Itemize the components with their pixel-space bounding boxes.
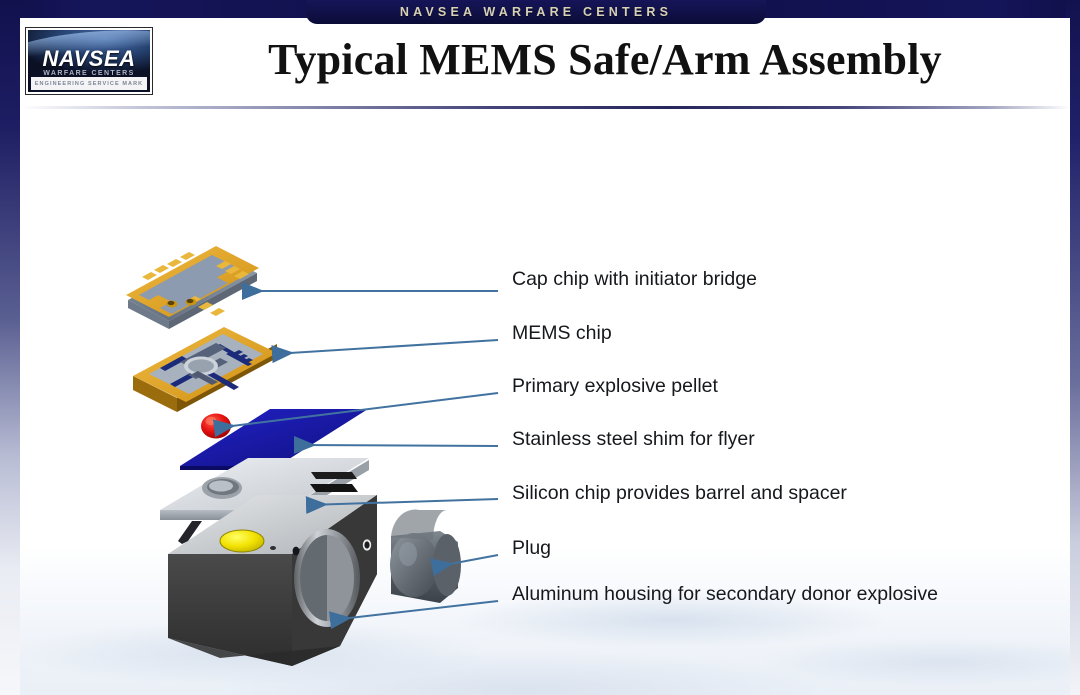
- navsea-warfare-centers-banner: NAVSEA WARFARE CENTERS: [306, 0, 766, 24]
- leader-line-mems-chip: [274, 340, 498, 354]
- part-mems-chip: [133, 327, 277, 412]
- callout-label-steel-shim: Stainless steel shim for flyer: [512, 428, 755, 451]
- callout-label-aluminum-housing: Aluminum housing for secondary donor exp…: [512, 583, 938, 606]
- slide-viewer: NAVSEA WARFARE CENTERS ENGINEERING SERVI…: [0, 0, 1080, 695]
- callout-label-plug: Plug: [512, 537, 551, 560]
- part-cap-chip: [126, 246, 259, 329]
- leader-line-primary-pellet: [216, 393, 498, 428]
- banner-text: NAVSEA WARFARE CENTERS: [400, 5, 672, 19]
- leader-line-steel-shim: [296, 445, 498, 446]
- callout-label-primary-pellet: Primary explosive pellet: [512, 375, 718, 398]
- presentation-slide: NAVSEA WARFARE CENTERS ENGINEERING SERVI…: [20, 18, 1070, 695]
- callout-label-mems-chip: MEMS chip: [512, 322, 612, 345]
- callout-label-silicon-chip: Silicon chip provides barrel and spacer: [512, 482, 847, 505]
- part-plug: [390, 510, 461, 603]
- callout-label-cap-chip: Cap chip with initiator bridge: [512, 268, 757, 291]
